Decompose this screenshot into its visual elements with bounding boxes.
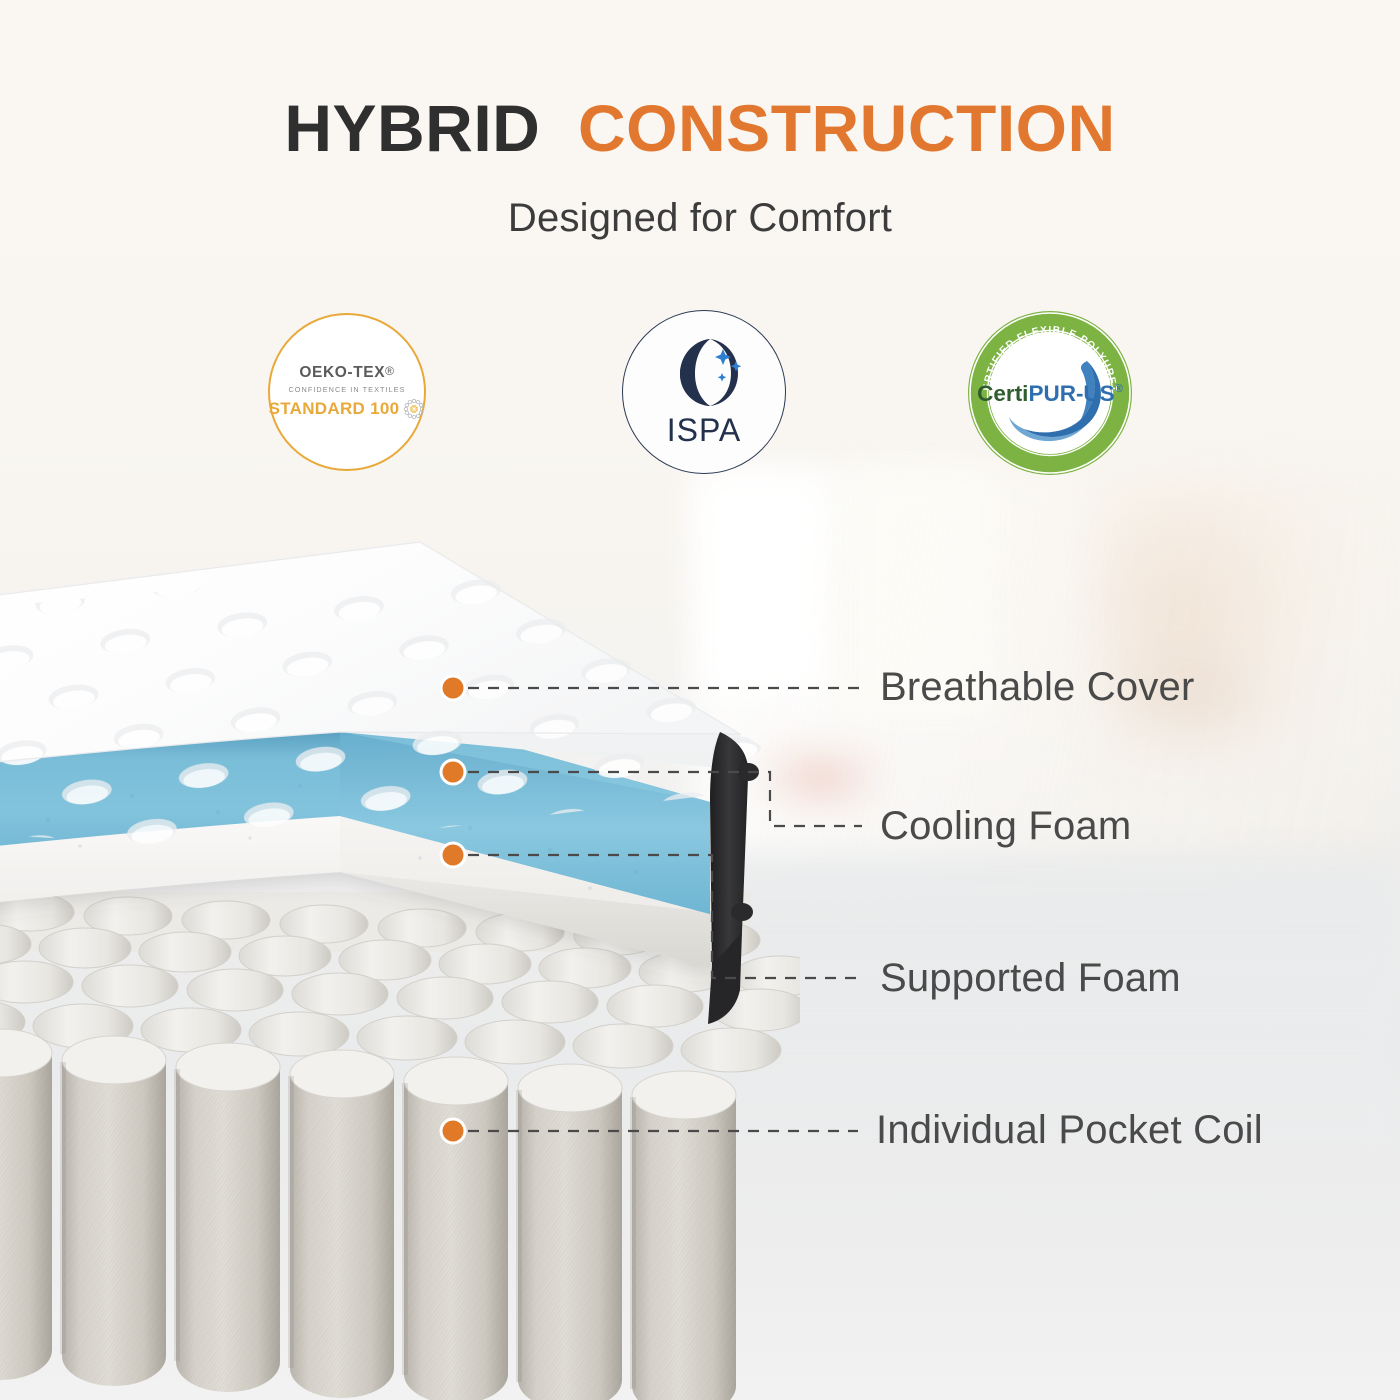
- page-title: HYBRID CONSTRUCTION: [0, 95, 1400, 161]
- badge-ispa: ISPA: [622, 310, 786, 474]
- certification-badge-row: OEKO-TEX® CONFIDENCE IN TEXTILES STANDAR…: [0, 305, 1400, 490]
- oeko-tex-standard-row: STANDARD 100: [269, 398, 426, 420]
- page-title-part-1: HYBRID: [284, 91, 540, 165]
- infographic-canvas: HYBRID CONSTRUCTION Designed for Comfort…: [0, 0, 1400, 1400]
- page-subtitle: Designed for Comfort: [0, 196, 1400, 241]
- crescent-moon-icon: [656, 333, 752, 411]
- certipur-us-seal: CONTAINS CERTIFIED FLEXIBLE POLYURETHANE…: [966, 309, 1134, 477]
- flower-sun-icon: [403, 398, 425, 420]
- page-title-part-2: CONSTRUCTION: [578, 91, 1116, 165]
- backdrop-panel-right: [845, 465, 995, 715]
- badge-oeko-tex: OEKO-TEX® CONFIDENCE IN TEXTILES STANDAR…: [268, 313, 426, 471]
- oeko-tex-name: OEKO-TEX: [299, 364, 385, 381]
- callout-label-supported-foam: Supported Foam: [880, 958, 1181, 998]
- ispa-label: ISPA: [667, 412, 742, 449]
- callout-label-individual-pocket-coil: Individual Pocket Coil: [876, 1110, 1263, 1150]
- mattress-layers-diagram: [0, 520, 800, 1400]
- badge-certipur-us: CONTAINS CERTIFIED FLEXIBLE POLYURETHANE…: [966, 309, 1134, 477]
- callout-label-breathable-cover: Breathable Cover: [880, 667, 1195, 707]
- callout-label-cooling-foam: Cooling Foam: [880, 806, 1131, 846]
- oeko-tex-tagline: CONFIDENCE IN TEXTILES: [288, 385, 405, 394]
- registered-trademark-icon: ®: [385, 364, 394, 378]
- pocket-coil-front-row: [0, 1016, 736, 1400]
- certipur-center-wordmark: CertiPUR-US®: [977, 381, 1123, 406]
- mattress-cutaway-illustration: [0, 520, 800, 1400]
- backdrop-shelf: [1100, 640, 1280, 750]
- oeko-tex-wordmark: OEKO-TEX®: [299, 364, 394, 382]
- backdrop-warm-glow: [1090, 480, 1320, 780]
- oeko-tex-standard-label: STANDARD 100: [269, 399, 400, 419]
